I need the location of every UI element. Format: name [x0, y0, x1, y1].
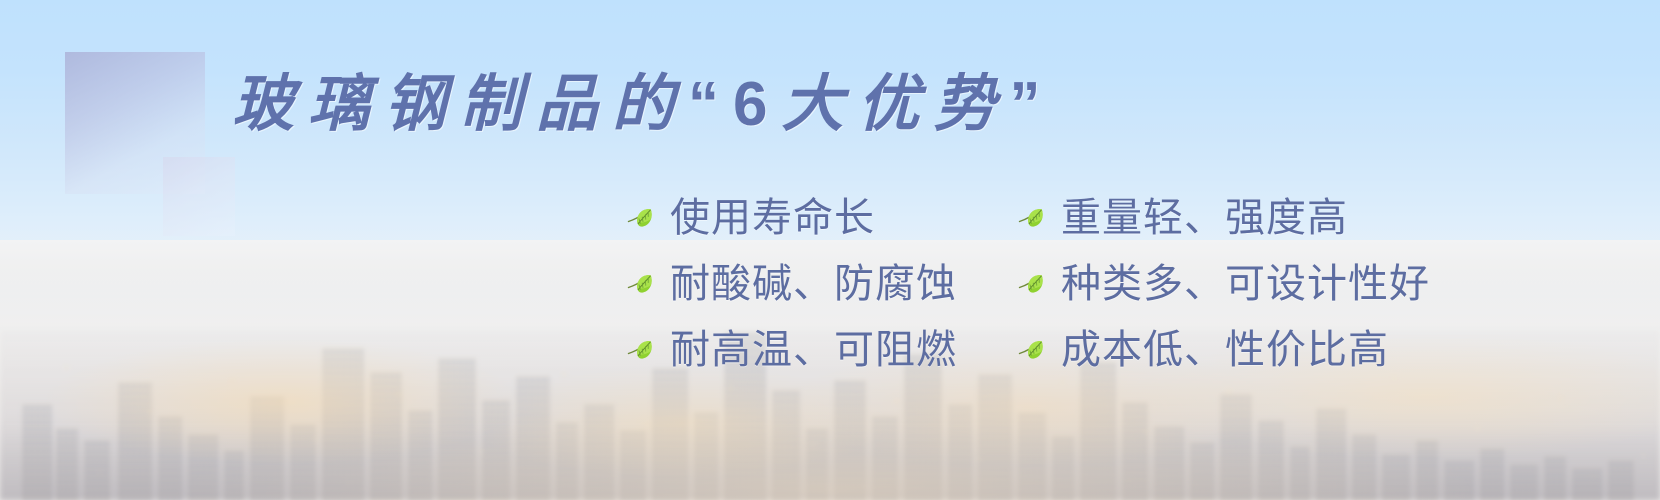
advantages-column-right: 重量轻、强度高 种类多、可设计性好	[1017, 196, 1430, 372]
list-item: 使用寿命长	[626, 196, 957, 240]
advantages-column-left: 使用寿命长 耐酸碱、防腐蚀	[626, 196, 957, 372]
list-item: 种类多、可设计性好	[1017, 262, 1430, 306]
leaf-icon	[1017, 337, 1047, 363]
decorative-square-small	[163, 157, 235, 236]
advantage-label: 成本低、性价比高	[1061, 330, 1389, 370]
title-prefix: 玻璃钢制品的	[232, 71, 688, 139]
list-item: 耐高温、可阻燃	[626, 328, 957, 372]
page-title: 玻璃钢制品的“6大优势”	[232, 74, 1055, 136]
leaf-icon	[626, 205, 656, 231]
title-quote-open: “	[688, 70, 733, 139]
promo-banner: 玻璃钢制品的“6大优势” 使用寿命长	[0, 0, 1660, 500]
title-quote-close: ”	[1010, 70, 1055, 139]
advantage-label: 耐高温、可阻燃	[670, 330, 957, 370]
leaf-icon	[1017, 205, 1047, 231]
advantage-label: 使用寿命长	[670, 198, 875, 238]
foreground-shadow	[0, 424, 1660, 500]
title-number: 6	[733, 70, 781, 139]
advantage-label: 耐酸碱、防腐蚀	[670, 264, 957, 304]
list-item: 耐酸碱、防腐蚀	[626, 262, 957, 306]
title-suffix: 大优势	[782, 71, 1010, 139]
leaf-icon	[626, 337, 656, 363]
leaf-icon	[1017, 271, 1047, 297]
advantage-label: 种类多、可设计性好	[1061, 264, 1430, 304]
advantage-label: 重量轻、强度高	[1061, 198, 1348, 238]
list-item: 成本低、性价比高	[1017, 328, 1430, 372]
leaf-icon	[626, 271, 656, 297]
list-item: 重量轻、强度高	[1017, 196, 1430, 240]
advantages-list: 使用寿命长 耐酸碱、防腐蚀	[626, 196, 1430, 372]
